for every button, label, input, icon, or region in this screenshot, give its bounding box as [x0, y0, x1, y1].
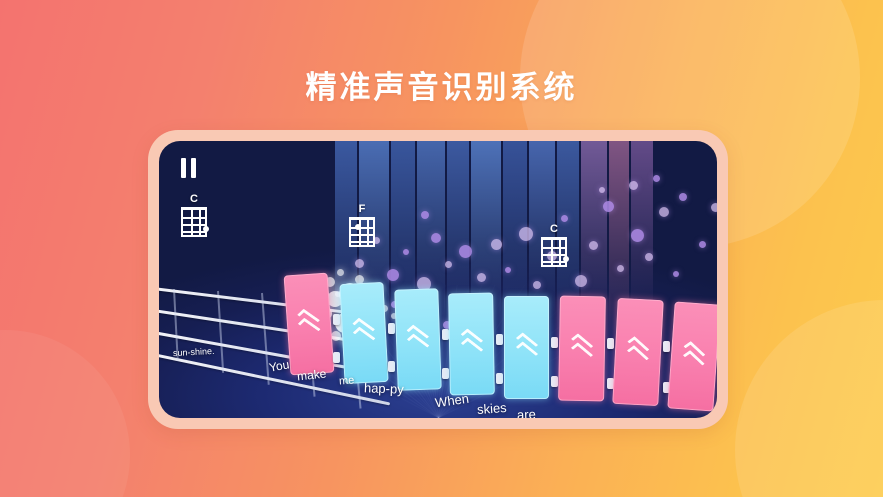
string-rail-connector	[496, 334, 503, 345]
chord-grid-fret	[183, 231, 205, 233]
double-chevron-up-icon	[517, 335, 537, 361]
chord-diagram: C	[541, 223, 567, 267]
string-rail-connector	[663, 341, 670, 352]
note-tile[interactable]	[667, 302, 717, 412]
double-chevron-up-icon	[461, 331, 481, 357]
chord-diagram: F	[349, 203, 375, 247]
lyric-word: skies	[477, 400, 508, 417]
lyric-word: me	[339, 374, 355, 387]
note-tile[interactable]	[504, 296, 549, 399]
note-tile[interactable]	[284, 273, 335, 376]
chord-grid-fret	[543, 247, 565, 249]
chord-finger-dot	[203, 226, 209, 232]
string-rail-connector	[551, 337, 558, 348]
note-tile[interactable]	[448, 293, 495, 396]
double-chevron-up-icon	[353, 319, 374, 346]
note-tile[interactable]	[558, 296, 606, 402]
string-rail-connector	[607, 338, 614, 349]
phone-screen: CFC sun-shine.Youmakemehap-pyWhenskiesar…	[159, 141, 717, 418]
chord-grid	[181, 207, 207, 237]
string-rail-connector	[388, 323, 395, 334]
note-tile[interactable]	[612, 298, 663, 406]
chord-diagram: C	[181, 193, 207, 237]
lyric-word: hap-py	[364, 380, 404, 396]
string-rail-connector	[333, 352, 340, 363]
lyric-word: are	[517, 407, 536, 418]
bg-decor-circle-left	[0, 330, 130, 497]
chord-grid-fret	[351, 241, 373, 243]
double-chevron-up-icon	[298, 310, 320, 337]
double-chevron-up-icon	[627, 338, 648, 365]
chord-name-label: F	[349, 203, 375, 215]
string-rail-connector	[496, 373, 503, 384]
chord-name-label: C	[541, 223, 567, 235]
fret-marker	[217, 291, 224, 373]
string-rail-connector	[388, 361, 395, 372]
chord-grid-fret	[351, 234, 373, 236]
chord-finger-dot	[563, 256, 569, 262]
chord-grid-fret	[543, 254, 565, 256]
double-chevron-up-icon	[683, 343, 705, 370]
chord-grid	[541, 237, 567, 267]
double-chevron-up-icon	[572, 335, 592, 361]
bg-decor-circle-right	[735, 300, 883, 497]
double-chevron-up-icon	[408, 326, 429, 353]
string-rail-connector	[333, 314, 340, 325]
page-title: 精准声音识别系统	[0, 62, 883, 107]
chord-name-label: C	[181, 193, 207, 205]
phone-frame: CFC sun-shine.Youmakemehap-pyWhenskiesar…	[148, 130, 728, 429]
fret-marker	[261, 293, 270, 385]
note-tile[interactable]	[394, 288, 441, 390]
chord-finger-dot	[355, 224, 361, 230]
chord-grid-fret	[543, 261, 565, 263]
string-rail-connector	[442, 368, 449, 379]
string-rail-connector	[551, 376, 558, 387]
chord-grid-fret	[183, 224, 205, 226]
note-tile[interactable]	[339, 282, 388, 384]
pause-icon[interactable]	[181, 157, 200, 178]
chord-grid	[349, 217, 375, 247]
chord-grid-fret	[183, 217, 205, 219]
